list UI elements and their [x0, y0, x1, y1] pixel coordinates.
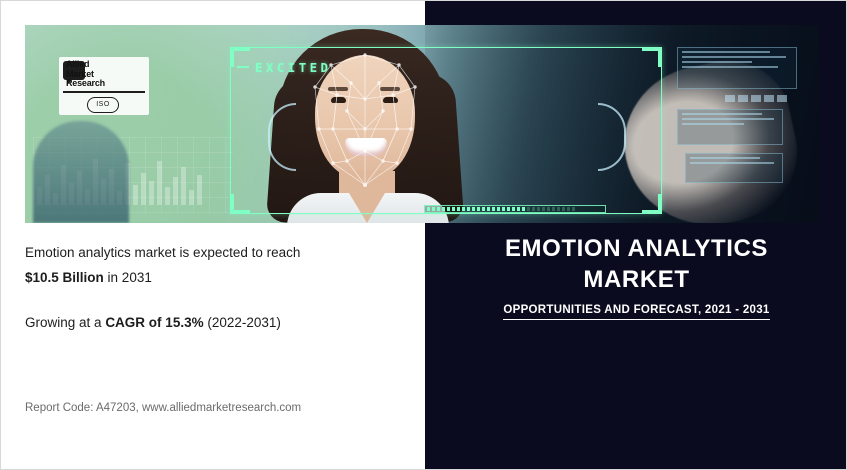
hud-panel-1	[677, 47, 797, 89]
logo-iso-badge: ISO	[87, 97, 119, 113]
report-code-footer: Report Code: A47203, www.alliedmarketres…	[25, 402, 301, 414]
summary-year: in 2031	[108, 270, 152, 285]
company-logo: Allied Market Research ISO	[59, 57, 149, 115]
report-infographic: EMOTION ANALYTICS MARKET OPPORTUNITIES A…	[0, 0, 847, 470]
hud-dots	[725, 95, 787, 102]
emotion-status-label: EXCITED	[255, 60, 331, 75]
frame-corner-bottom-left	[230, 194, 250, 214]
logo-text: Allied Market Research	[66, 60, 105, 89]
growth-line: Growing at a CAGR of 15.3% (2022-2031)	[25, 311, 411, 334]
summary-line1: Emotion analytics market is expected to …	[25, 241, 411, 264]
growth-prefix: Growing at a	[25, 315, 102, 330]
growth-value: CAGR of 15.3%	[105, 315, 203, 330]
summary-value: $10.5 Billion	[25, 270, 104, 285]
logo-divider	[63, 91, 145, 93]
report-title: EMOTION ANALYTICS MARKET	[425, 233, 847, 295]
frame-corner-bottom-right	[642, 194, 662, 214]
hero-image: EXCITED Allied Market Research ISO	[25, 25, 819, 223]
frame-corner-top-left	[230, 47, 250, 67]
report-subtitle-text: OPPORTUNITIES AND FORECAST, 2021 - 2031	[503, 304, 769, 320]
scan-progress-bar	[424, 205, 606, 213]
report-title-line1: EMOTION ANALYTICS	[425, 233, 847, 264]
growth-period: (2022-2031)	[207, 315, 281, 330]
hud-panel-3	[685, 153, 783, 183]
hud-panel-2	[677, 109, 783, 145]
summary-text: Emotion analytics market is expected to …	[25, 241, 411, 334]
status-dash-icon	[237, 66, 249, 68]
report-title-line2: MARKET	[425, 264, 847, 295]
summary-line2: $10.5 Billion in 2031	[25, 266, 411, 289]
logo-line3: Research	[66, 79, 105, 89]
frame-corner-top-right	[642, 47, 662, 67]
report-subtitle: OPPORTUNITIES AND FORECAST, 2021 - 2031	[425, 304, 847, 316]
background-person-silhouette	[33, 121, 129, 223]
